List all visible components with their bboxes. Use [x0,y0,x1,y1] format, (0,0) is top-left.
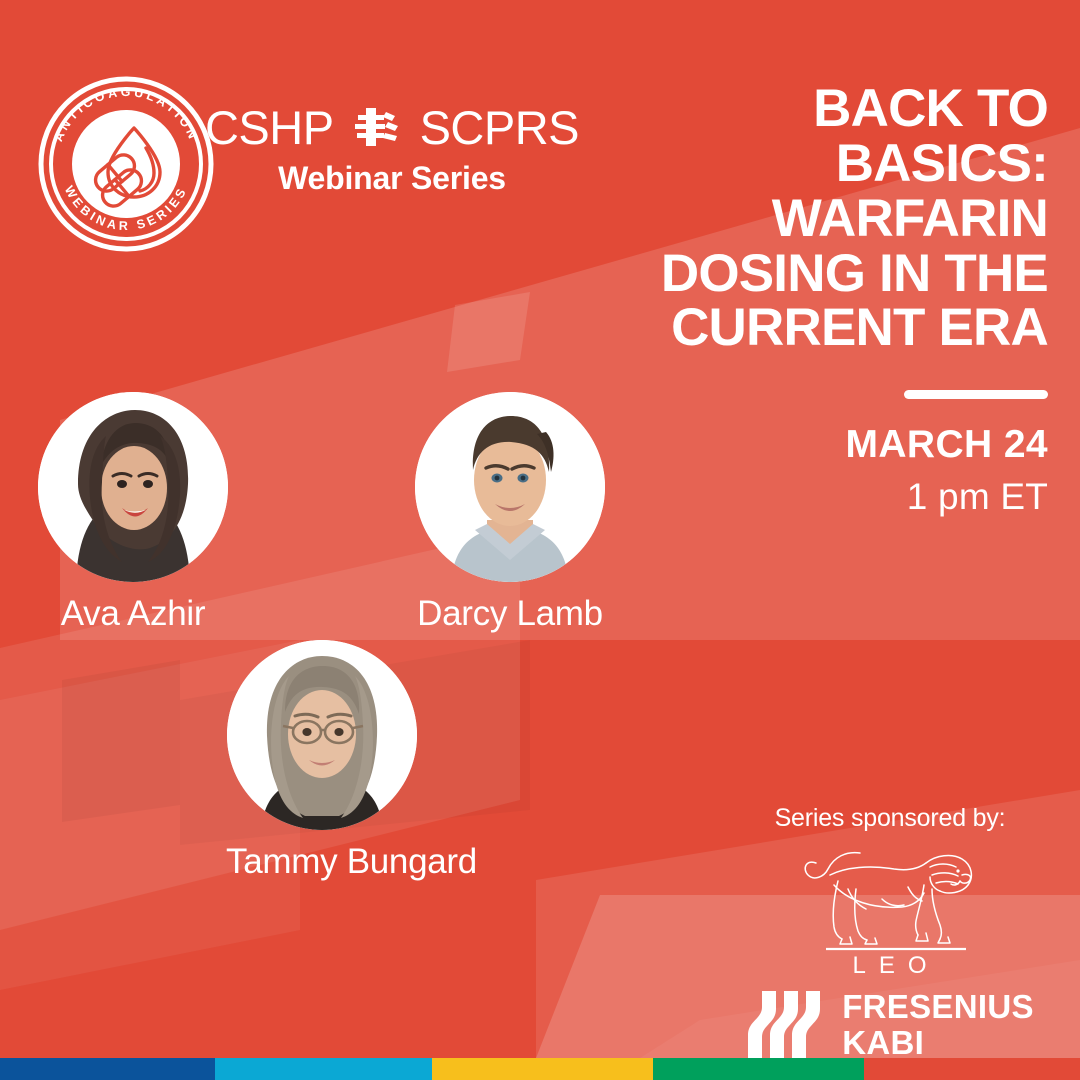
speaker-card: Ava Azhir [38,392,228,631]
bottom-color-bar [0,1058,1080,1080]
color-bar-segment-cyan [215,1058,432,1080]
fresenius-kabi-line-2: KABI [842,1025,1034,1061]
avatar [415,392,605,582]
fresenius-kabi-logo: FRESENIUS KABI [740,985,1040,1065]
avatar [227,640,417,830]
speaker-name: Darcy Lamb [415,596,605,631]
leo-logo: LEO [740,845,1040,977]
fresenius-kabi-wordmark: FRESENIUS KABI [842,989,1034,1060]
leo-wordmark: LEO [852,952,939,977]
fresenius-kabi-line-1: FRESENIUS [842,989,1034,1025]
speaker-name: Ava Azhir [38,596,228,631]
color-bar-segment-blue [0,1058,215,1080]
speaker-card: Tammy Bungard [227,640,417,879]
fresenius-kabi-wave-icon [746,985,820,1065]
sponsors-label: Series sponsored by: [740,806,1040,831]
speaker-name: Tammy Bungard [226,844,416,879]
speaker-card: Darcy Lamb [415,392,605,631]
sponsors-block: Series sponsored by: [740,806,1040,1065]
leo-lion-icon [805,853,971,944]
color-bar-segment-green [653,1058,864,1080]
avatar [38,392,228,582]
color-bar-segment-red [864,1058,1080,1080]
color-bar-segment-yellow [432,1058,653,1080]
